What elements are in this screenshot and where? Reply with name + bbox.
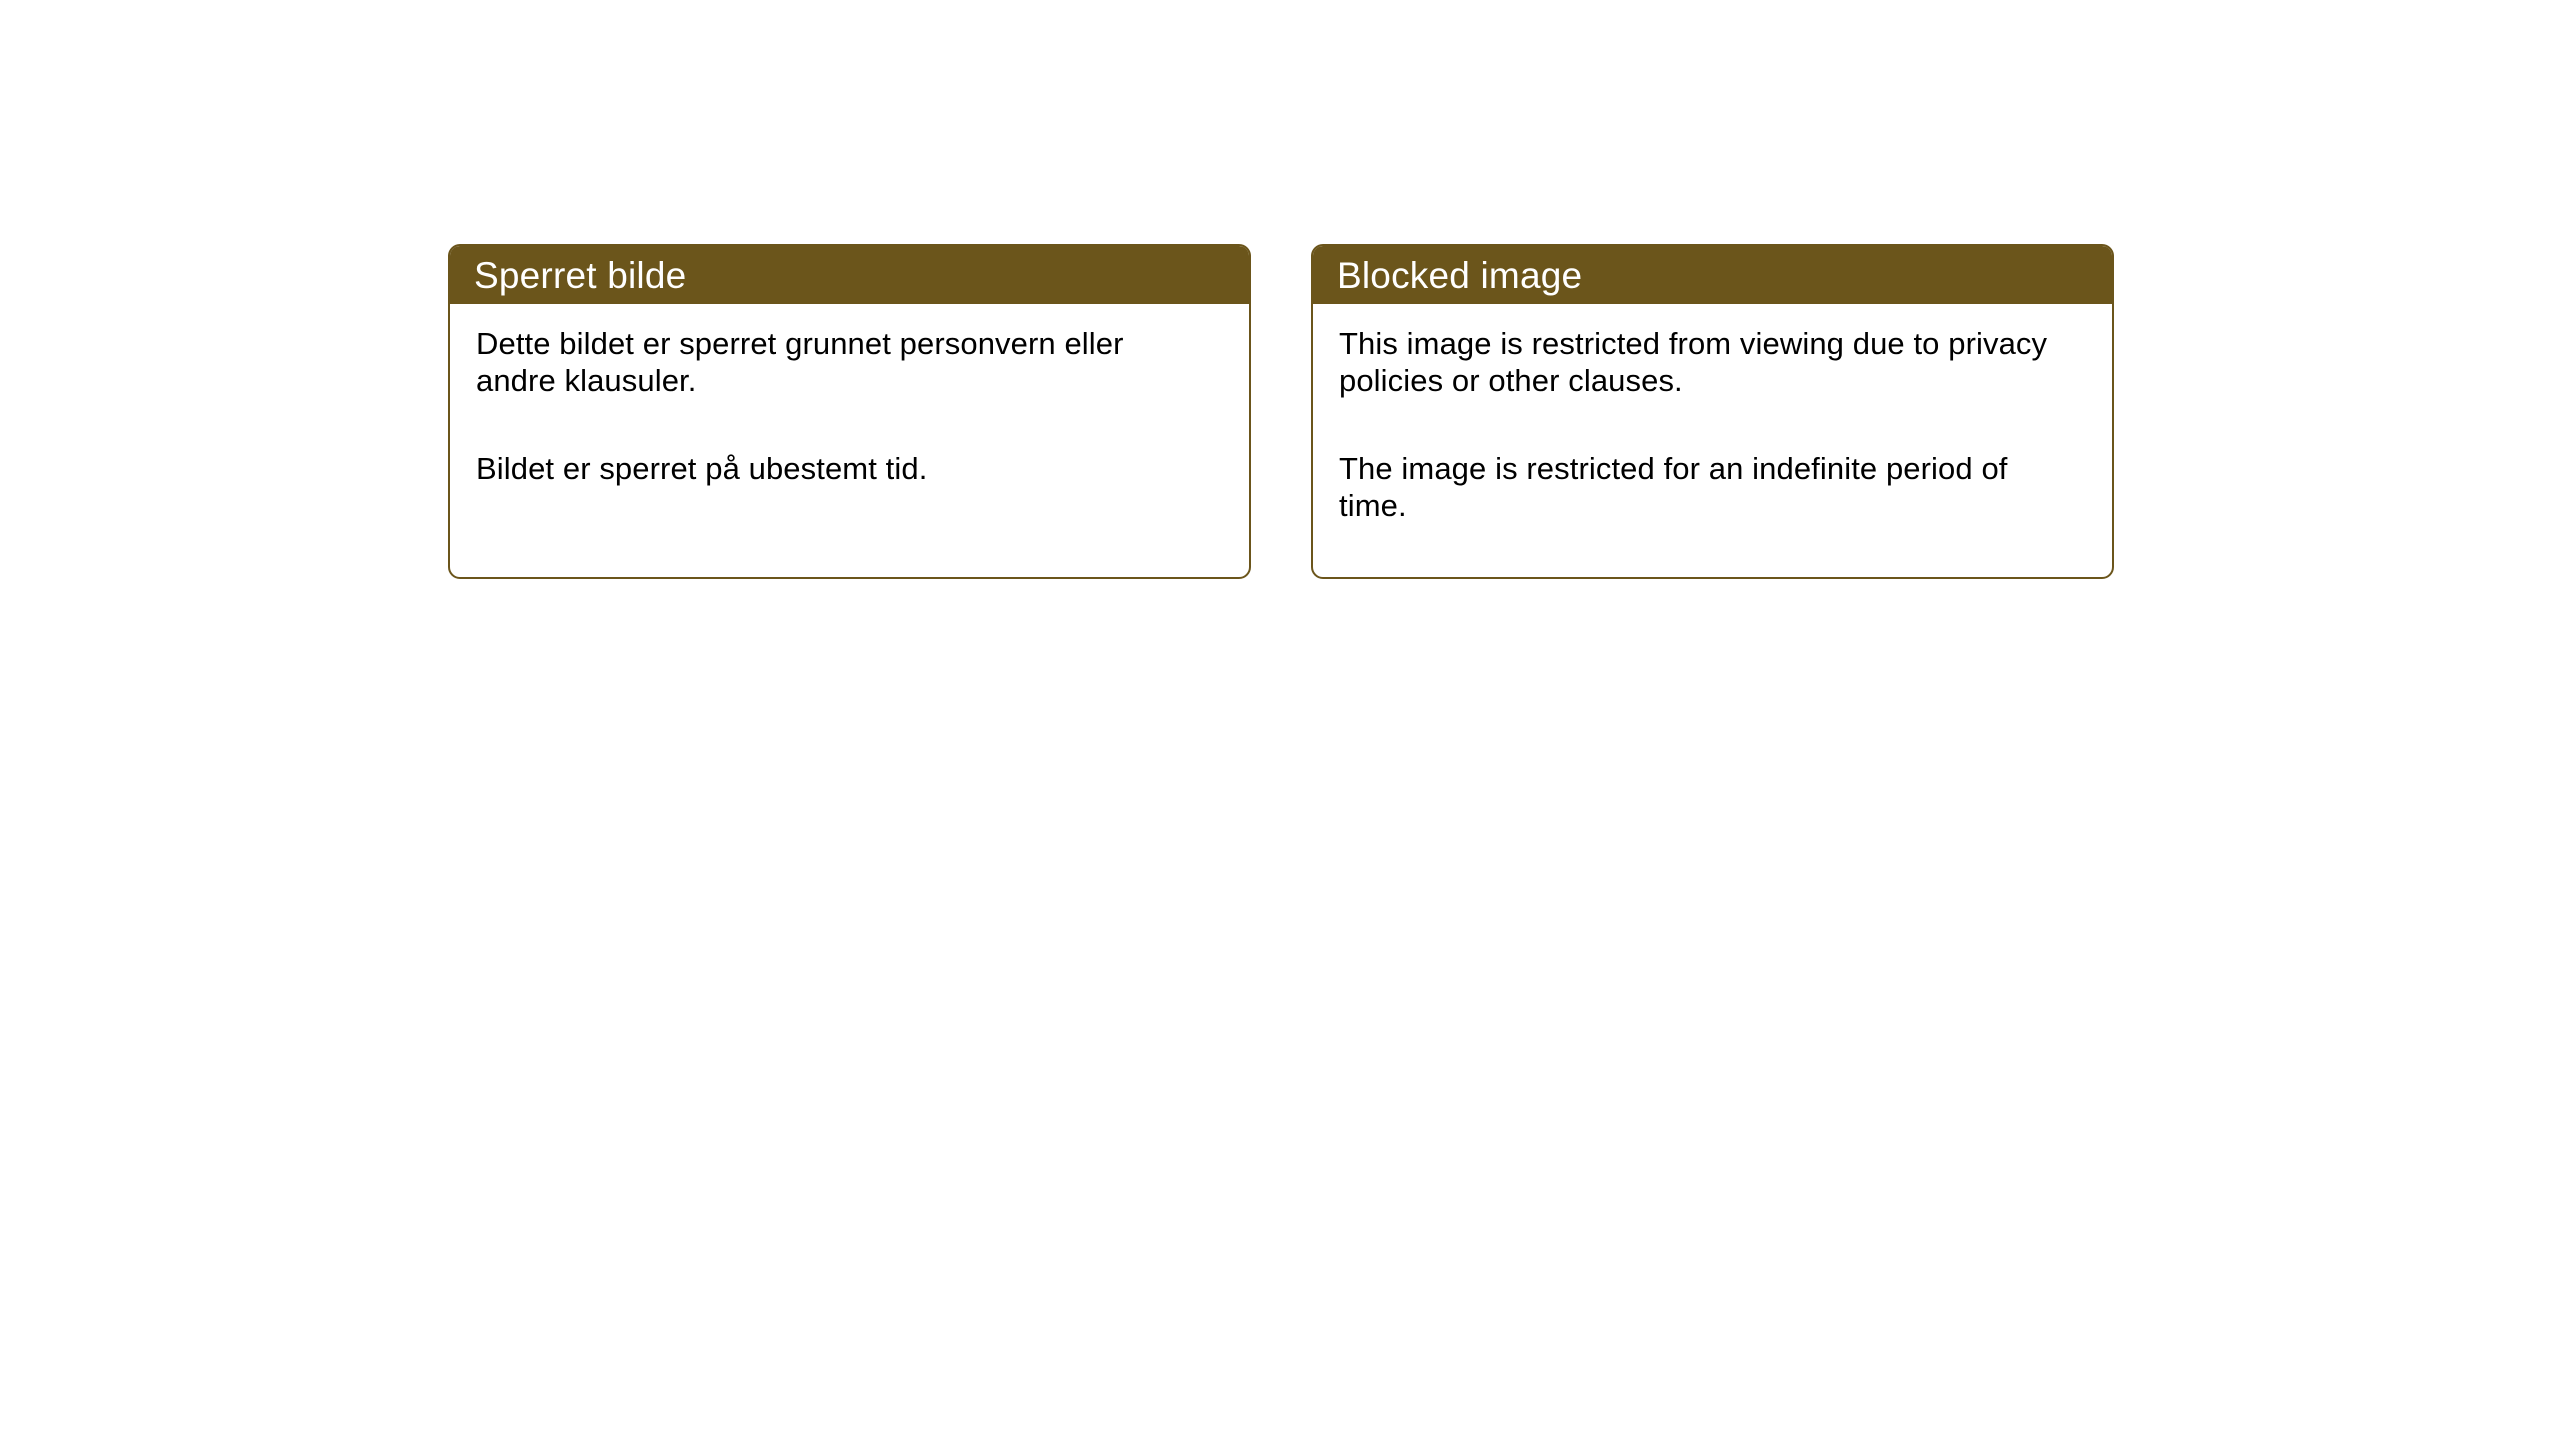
card-title-english: Blocked image xyxy=(1337,257,1582,294)
card-header-norwegian: Sperret bilde xyxy=(450,246,1249,304)
blocked-image-notice-norwegian: Sperret bilde Dette bildet er sperret gr… xyxy=(448,244,1251,579)
card-paragraph-reason-norwegian: Dette bildet er sperret grunnet personve… xyxy=(476,326,1176,399)
card-paragraph-reason-english: This image is restricted from viewing du… xyxy=(1339,326,2059,399)
card-paragraph-duration-english: The image is restricted for an indefinit… xyxy=(1339,451,2059,524)
card-header-english: Blocked image xyxy=(1313,246,2112,304)
card-body-norwegian: Dette bildet er sperret grunnet personve… xyxy=(450,304,1249,488)
card-paragraph-duration-norwegian: Bildet er sperret på ubestemt tid. xyxy=(476,451,1176,488)
card-title-norwegian: Sperret bilde xyxy=(474,257,686,294)
card-body-english: This image is restricted from viewing du… xyxy=(1313,304,2112,524)
blocked-image-notice-english: Blocked image This image is restricted f… xyxy=(1311,244,2114,579)
page-root: Sperret bilde Dette bildet er sperret gr… xyxy=(0,0,2560,1440)
